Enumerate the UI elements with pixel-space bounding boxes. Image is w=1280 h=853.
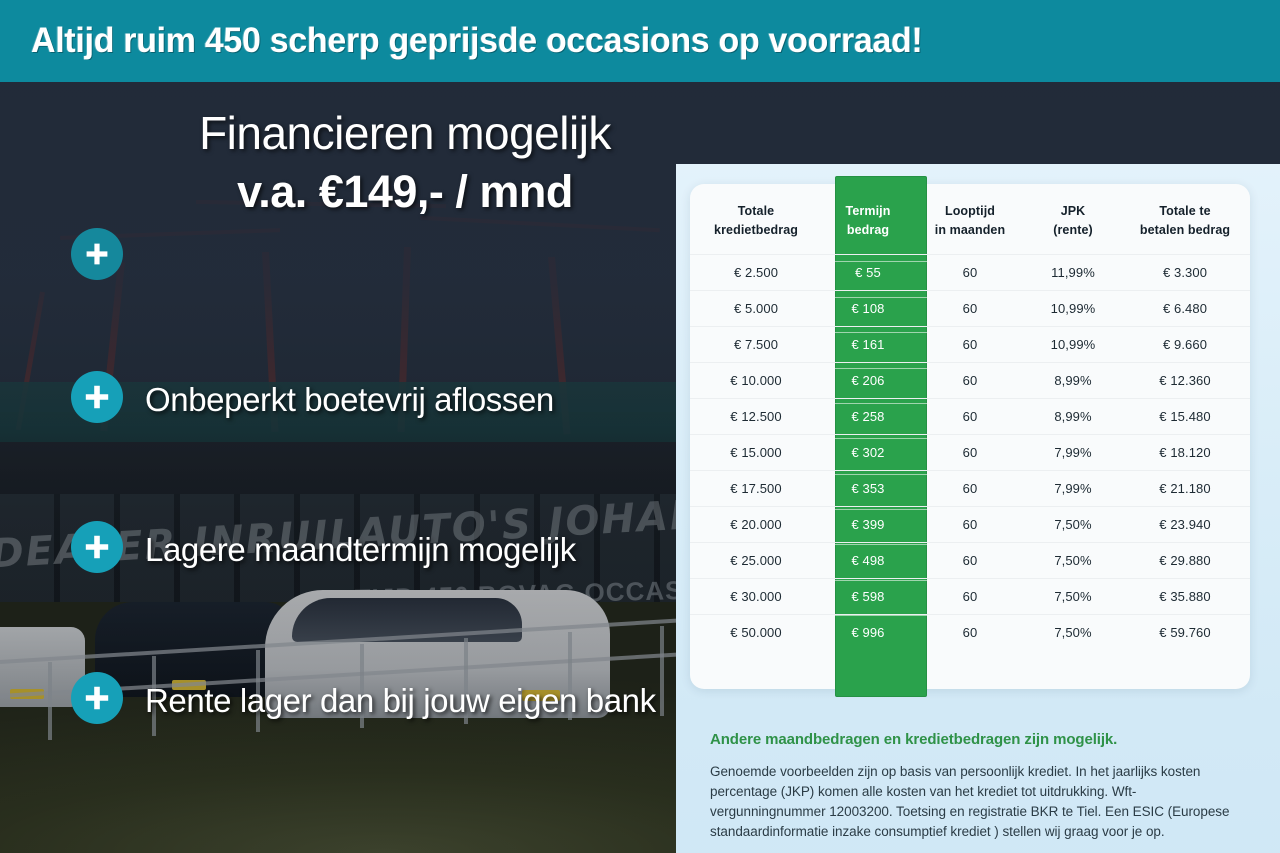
table-row: € 25.000€ 498607,50%€ 29.880 xyxy=(690,543,1250,579)
cell-krediet: € 15.000 xyxy=(690,435,822,471)
cell-termijn: € 996 xyxy=(822,615,914,651)
cell-termijn: € 353 xyxy=(822,471,914,507)
cell-looptijd: 60 xyxy=(914,507,1026,543)
main-body: DEALER INRUILAUTO'S JOHAN MEURE ALTIJD 4… xyxy=(0,82,1280,853)
cell-totaal: € 18.120 xyxy=(1120,435,1250,471)
cell-totaal: € 6.480 xyxy=(1120,291,1250,327)
cell-jkp: 7,99% xyxy=(1026,471,1120,507)
cell-termijn: € 498 xyxy=(822,543,914,579)
cell-jkp: 10,99% xyxy=(1026,291,1120,327)
cell-termijn: € 206 xyxy=(822,363,914,399)
cell-looptijd: 60 xyxy=(914,579,1026,615)
cell-totaal: € 15.480 xyxy=(1120,399,1250,435)
column-header-looptijd: Looptijd in maanden xyxy=(914,184,1026,255)
left-content: Financieren mogelijk v.a. €149,- / mnd O… xyxy=(0,82,690,853)
cell-termijn: € 302 xyxy=(822,435,914,471)
table-row: € 12.500€ 258608,99%€ 15.480 xyxy=(690,399,1250,435)
table-header-row: Totale kredietbedrag Termijn bedrag Loop… xyxy=(690,184,1250,255)
cell-jkp: 7,50% xyxy=(1026,615,1120,651)
cell-looptijd: 60 xyxy=(914,435,1026,471)
table-row: € 50.000€ 996607,50%€ 59.760 xyxy=(690,615,1250,651)
finance-info-panel: Totale kredietbedrag Termijn bedrag Loop… xyxy=(676,164,1280,853)
table-row: € 30.000€ 598607,50%€ 35.880 xyxy=(690,579,1250,615)
cell-termijn: € 161 xyxy=(822,327,914,363)
table-row: € 15.000€ 302607,99%€ 18.120 xyxy=(690,435,1250,471)
cell-totaal: € 59.760 xyxy=(1120,615,1250,651)
table-row: € 10.000€ 206608,99%€ 12.360 xyxy=(690,363,1250,399)
cell-totaal: € 21.180 xyxy=(1120,471,1250,507)
cell-krediet: € 17.500 xyxy=(690,471,822,507)
cell-krediet: € 2.500 xyxy=(690,255,822,291)
cell-looptijd: 60 xyxy=(914,399,1026,435)
cell-looptijd: 60 xyxy=(914,615,1026,651)
table-row: € 5.000€ 1086010,99%€ 6.480 xyxy=(690,291,1250,327)
plus-icon xyxy=(71,521,123,573)
plus-icon xyxy=(71,228,123,280)
cell-looptijd: 60 xyxy=(914,543,1026,579)
disclaimer-block: Andere maandbedragen en kredietbedragen … xyxy=(710,730,1246,842)
cell-krediet: € 10.000 xyxy=(690,363,822,399)
cell-looptijd: 60 xyxy=(914,471,1026,507)
feature-item-1-label: Lagere maandtermijn mogelijk xyxy=(145,531,576,569)
page-title: Financieren mogelijk v.a. €149,- / mnd xyxy=(140,104,670,222)
cell-totaal: € 29.880 xyxy=(1120,543,1250,579)
table-header: Totale kredietbedrag Termijn bedrag Loop… xyxy=(690,184,1250,255)
cell-jkp: 7,50% xyxy=(1026,579,1120,615)
banner-headline: Altijd ruim 450 scherp geprijsde occasio… xyxy=(0,21,923,61)
cell-jkp: 7,50% xyxy=(1026,507,1120,543)
headline-line-2: v.a. €149,- / mnd xyxy=(140,162,670,222)
cell-krediet: € 30.000 xyxy=(690,579,822,615)
table-row: € 17.500€ 353607,99%€ 21.180 xyxy=(690,471,1250,507)
feature-item-2-label: Rente lager dan bij jouw eigen bank xyxy=(145,682,656,720)
cell-looptijd: 60 xyxy=(914,363,1026,399)
table-row: € 2.500€ 556011,99%€ 3.300 xyxy=(690,255,1250,291)
column-header-jkp: JPK (rente) xyxy=(1026,184,1120,255)
column-header-krediet: Totale kredietbedrag xyxy=(690,184,822,255)
cell-krediet: € 20.000 xyxy=(690,507,822,543)
disclaimer-body: Genoemde voorbeelden zijn op basis van p… xyxy=(710,762,1246,842)
plus-icon xyxy=(71,672,123,724)
cell-krediet: € 7.500 xyxy=(690,327,822,363)
cell-looptijd: 60 xyxy=(914,327,1026,363)
cell-looptijd: 60 xyxy=(914,255,1026,291)
cell-krediet: € 5.000 xyxy=(690,291,822,327)
cell-jkp: 11,99% xyxy=(1026,255,1120,291)
cell-totaal: € 9.660 xyxy=(1120,327,1250,363)
finance-rates-table: Totale kredietbedrag Termijn bedrag Loop… xyxy=(690,184,1250,650)
cell-krediet: € 25.000 xyxy=(690,543,822,579)
headline-line-1: Financieren mogelijk xyxy=(140,104,670,162)
cell-jkp: 8,99% xyxy=(1026,399,1120,435)
cell-totaal: € 3.300 xyxy=(1120,255,1250,291)
rates-table-card: Totale kredietbedrag Termijn bedrag Loop… xyxy=(690,184,1250,689)
table-row: € 20.000€ 399607,50%€ 23.940 xyxy=(690,507,1250,543)
advert-banner: Altijd ruim 450 scherp geprijsde occasio… xyxy=(0,0,1280,853)
table-body: € 2.500€ 556011,99%€ 3.300€ 5.000€ 10860… xyxy=(690,255,1250,651)
cell-jkp: 7,99% xyxy=(1026,435,1120,471)
column-header-termijn: Termijn bedrag xyxy=(822,184,914,255)
cell-jkp: 10,99% xyxy=(1026,327,1120,363)
cell-termijn: € 108 xyxy=(822,291,914,327)
cell-totaal: € 12.360 xyxy=(1120,363,1250,399)
feature-item-0-label: Onbeperkt boetevrij aflossen xyxy=(145,381,554,419)
cell-jkp: 8,99% xyxy=(1026,363,1120,399)
cell-termijn: € 399 xyxy=(822,507,914,543)
disclaimer-heading: Andere maandbedragen en kredietbedragen … xyxy=(710,730,1246,750)
cell-totaal: € 23.940 xyxy=(1120,507,1250,543)
cell-termijn: € 598 xyxy=(822,579,914,615)
cell-termijn: € 258 xyxy=(822,399,914,435)
cell-krediet: € 12.500 xyxy=(690,399,822,435)
column-header-totaal: Totale te betalen bedrag xyxy=(1120,184,1250,255)
cell-jkp: 7,50% xyxy=(1026,543,1120,579)
cell-looptijd: 60 xyxy=(914,291,1026,327)
top-banner: Altijd ruim 450 scherp geprijsde occasio… xyxy=(0,0,1280,82)
cell-termijn: € 55 xyxy=(822,255,914,291)
plus-icon xyxy=(71,371,123,423)
table-row: € 7.500€ 1616010,99%€ 9.660 xyxy=(690,327,1250,363)
cell-totaal: € 35.880 xyxy=(1120,579,1250,615)
cell-krediet: € 50.000 xyxy=(690,615,822,651)
